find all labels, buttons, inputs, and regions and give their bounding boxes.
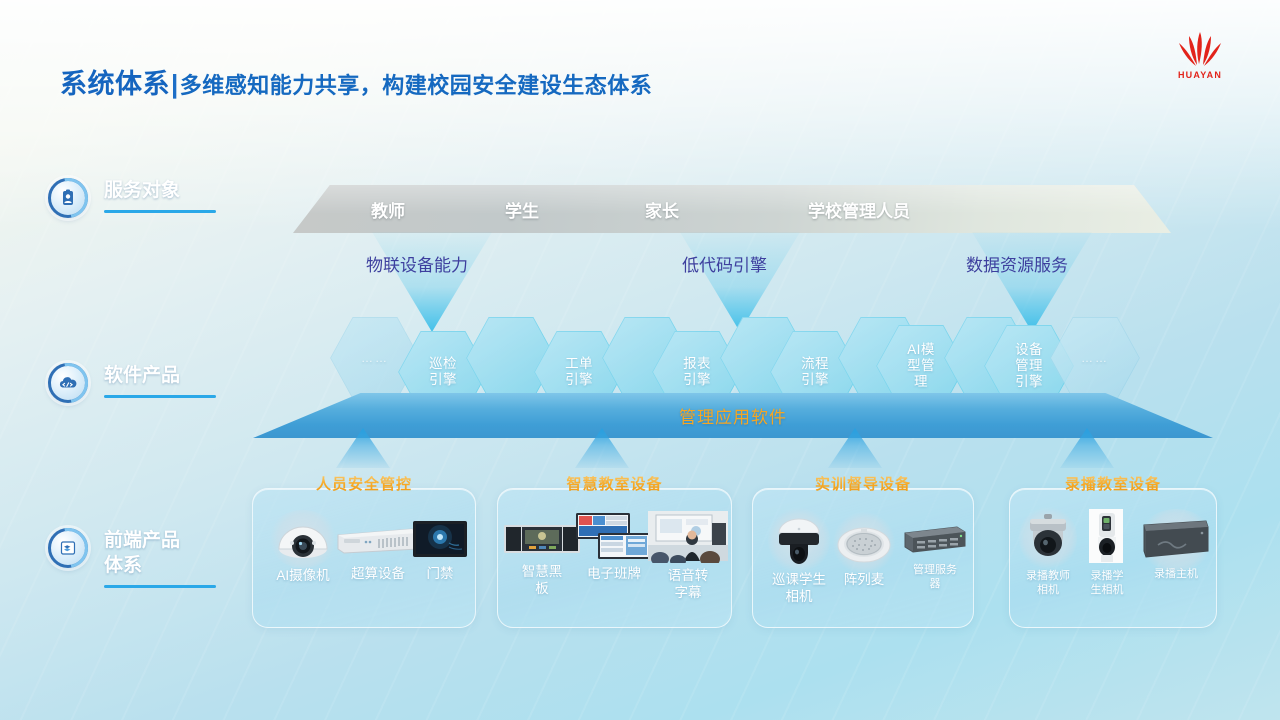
product-access-control[interactable]: 门禁 [405, 517, 475, 582]
hexagon-label: 工单 引擎 [565, 356, 593, 388]
student-cam-icon [1072, 507, 1142, 567]
rail-text-service-objects: 服务对象 [104, 178, 216, 213]
service-object-teacher[interactable]: 教师 [371, 197, 405, 222]
page-header: 系统体系|多维感知能力共享，构建校园安全建设生态体系 HUAYAN [0, 0, 1280, 130]
card-title: 录播教室设备 [1010, 473, 1216, 494]
classroom-photo-icon [645, 509, 731, 565]
layers-icon [48, 528, 88, 568]
logo-wordmark: HUAYAN [1178, 70, 1222, 80]
product-name: 录播学 生相机 [1072, 569, 1142, 597]
card-title: 智慧教室设备 [498, 473, 731, 494]
product-card-training-supervision[interactable]: 实训督导设备 巡课学生 相机 [752, 488, 974, 628]
card-title: 实训督导设备 [753, 473, 973, 494]
cloud-code-icon [48, 363, 88, 403]
service-object-school-admin[interactable]: 学校管理人员 [808, 197, 910, 222]
service-objects-band: 教师 学生 家长 学校管理人员 [293, 185, 1171, 233]
rail-text-software-products: 软件产品 [104, 363, 216, 398]
service-object-parent[interactable]: 家长 [645, 197, 679, 222]
product-card-smart-classroom[interactable]: 智慧教室设备 智慧黑 板 [497, 488, 732, 628]
capability-label-iot: 物联设备能力 [366, 251, 468, 276]
product-array-microphone[interactable]: 阵列麦 [825, 517, 903, 588]
hexagon-label: 巡检 引擎 [429, 356, 457, 388]
hexagon-label: 流程 引擎 [801, 356, 829, 388]
rack-server-icon [897, 521, 973, 561]
access-panel-icon [405, 517, 475, 563]
page-title-sub: 多维感知能力共享，构建校园安全建设生态体系 [180, 73, 653, 98]
rail-label: 软件产品 [104, 363, 216, 388]
card-title: 人员安全管控 [253, 473, 475, 494]
product-management-server[interactable]: 管理服务 器 [897, 521, 973, 591]
huayan-logo: HUAYAN [1163, 28, 1237, 80]
page-title-divider: | [171, 69, 179, 99]
product-name: 语音转 字幕 [645, 567, 731, 601]
recorder-host-icon [1136, 515, 1216, 565]
service-object-student[interactable]: 学生 [505, 197, 539, 222]
hexagon-label: 报表 引擎 [683, 356, 711, 388]
product-name: 管理服务 器 [897, 563, 973, 591]
capability-label-lowcode: 低代码引擎 [682, 251, 767, 276]
page-title-main: 系统体系 [60, 69, 170, 99]
management-software-band: 管理应用软件 [253, 393, 1213, 438]
product-card-personnel-safety[interactable]: 人员安全管控 AI摄像机 [252, 488, 476, 628]
product-speech-to-subtitle[interactable]: 语音转 字幕 [645, 509, 731, 601]
rail-underline [104, 210, 216, 213]
rail-item-frontend-products[interactable]: 前端产品 体系 [48, 528, 216, 588]
rail-item-service-objects[interactable]: 服务对象 [48, 178, 216, 218]
hexagon-label: 设备 管理 引擎 [1015, 342, 1043, 390]
hexagon-label: …… [361, 350, 389, 366]
hexagon-label: …… [1081, 350, 1109, 366]
product-recording-host[interactable]: 录播主机 [1136, 515, 1216, 581]
product-student-recording-camera[interactable]: 录播学 生相机 [1072, 507, 1142, 597]
rail-underline [104, 395, 216, 398]
band-shine [293, 185, 1171, 233]
rail-label: 服务对象 [104, 178, 216, 203]
capability-label-data: 数据资源服务 [966, 251, 1068, 276]
product-card-recording-classroom[interactable]: 录播教室设备 录播教师 相机 [1009, 488, 1217, 628]
rail-item-software-products[interactable]: 软件产品 [48, 363, 216, 403]
rail-underline [104, 585, 216, 588]
hexagon-ellipsis-right: …… [1050, 317, 1140, 399]
page-title: 系统体系|多维感知能力共享，构建校园安全建设生态体系 [60, 62, 652, 101]
engine-hexagon-row: …… 巡检 引擎 工单 引擎 报表 引擎 流程 引擎 AI模 型管 理 设备 管… [330, 303, 1140, 385]
management-software-label: 管理应用软件 [679, 403, 787, 428]
rail-text-frontend-products: 前端产品 体系 [104, 528, 216, 588]
id-badge-icon [48, 178, 88, 218]
array-mic-icon [825, 517, 903, 569]
hexagon-label: AI模 型管 理 [907, 342, 935, 390]
product-name: 门禁 [405, 565, 475, 582]
rail-label: 前端产品 体系 [104, 528, 216, 578]
